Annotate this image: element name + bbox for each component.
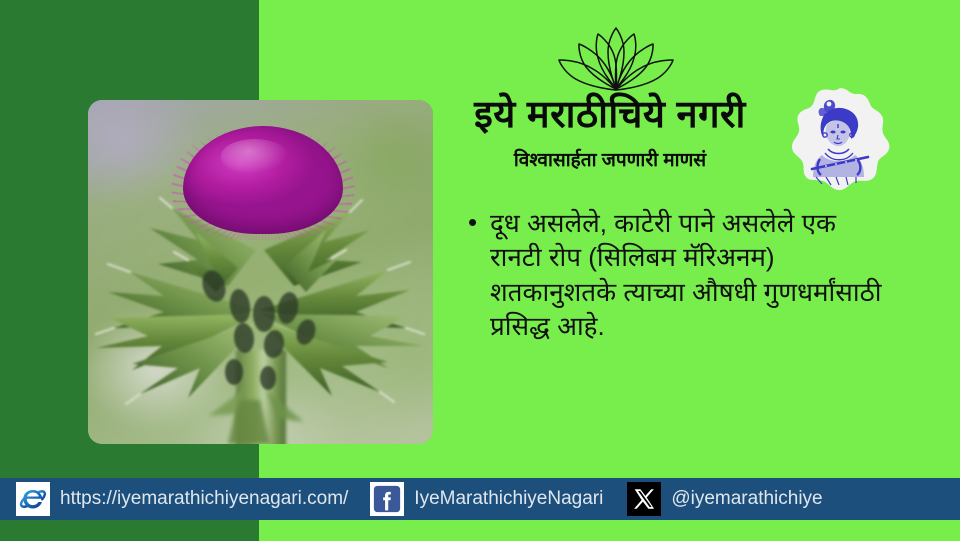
- footer-x-label: @iyemarathichiye: [671, 488, 822, 510]
- footer-facebook-label: IyeMarathichiyeNagari: [414, 488, 603, 510]
- footer-facebook-link[interactable]: IyeMarathichiyeNagari: [370, 478, 603, 520]
- photo-vignette: [88, 100, 433, 444]
- list-item: दूध असलेले, काटेरी पाने असलेले एक रानटी …: [466, 206, 886, 343]
- footer-website-link[interactable]: https://iyemarathichiyenagari.com/: [16, 478, 348, 520]
- x-twitter-icon: [627, 482, 661, 516]
- milk-thistle-photo: [88, 100, 433, 444]
- social-footer-bar: https://iyemarathichiyenagari.com/ IyeMa…: [0, 478, 960, 520]
- footer-website-label: https://iyemarathichiyenagari.com/: [60, 488, 348, 510]
- slide-canvas: इये मराठीचिये नगरी विश्वासार्हता जपणारी …: [0, 0, 960, 541]
- lotus-icon: [553, 22, 679, 94]
- brand-tagline: विश्वासार्हता जपणारी माणसं: [430, 146, 790, 172]
- content-bullet-list: दूध असलेले, काटेरी पाने असलेले एक रानटी …: [466, 206, 886, 343]
- facebook-icon: [370, 482, 404, 516]
- page-title: इये मराठीचिये नगरी: [440, 95, 780, 137]
- internet-explorer-icon: [16, 482, 50, 516]
- krishna-avatar-icon: [786, 85, 894, 193]
- footer-x-link[interactable]: @iyemarathichiye: [627, 478, 822, 520]
